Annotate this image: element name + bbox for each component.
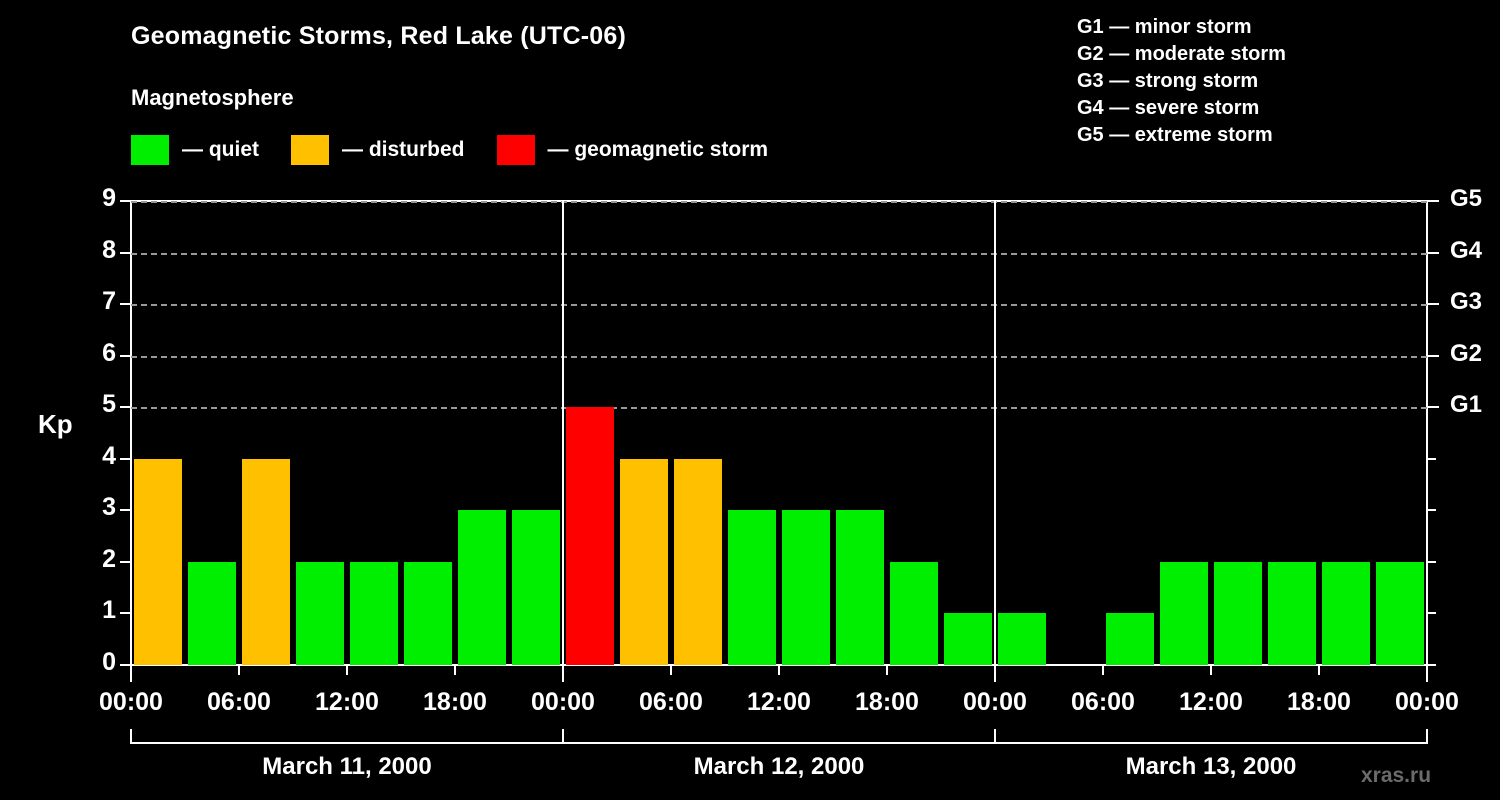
x-axis-tick-label: 00:00 xyxy=(531,688,595,717)
date-bracket xyxy=(995,742,1427,744)
bar xyxy=(944,613,992,665)
day-separator xyxy=(562,200,564,666)
y-axis-tick-label: 0 xyxy=(76,648,116,677)
x-axis-tick-label: 00:00 xyxy=(963,688,1027,717)
y-axis-tick-label: 2 xyxy=(76,545,116,574)
x-axis-minor-tick xyxy=(670,666,672,675)
date-label: March 12, 2000 xyxy=(694,753,865,781)
y-axis-tick-label: 5 xyxy=(76,390,116,419)
bar xyxy=(188,562,236,665)
bar xyxy=(890,562,938,665)
x-axis-major-tick xyxy=(1426,666,1428,682)
bar xyxy=(404,562,452,665)
g-axis-tick-label: G3 xyxy=(1450,288,1482,316)
g-axis-tick xyxy=(1428,252,1439,254)
watermark: xras.ru xyxy=(1361,764,1431,788)
y-axis-tick-label: 3 xyxy=(76,493,116,522)
bar xyxy=(1160,562,1208,665)
gridline-kp-9 xyxy=(131,201,1427,203)
y-axis-tick xyxy=(120,406,131,408)
bar xyxy=(1214,562,1262,665)
y-axis-tick-label: 6 xyxy=(76,339,116,368)
y-axis-tick xyxy=(120,458,131,460)
x-axis-major-tick xyxy=(994,666,996,682)
x-axis-minor-tick xyxy=(238,666,240,675)
plot-canvas xyxy=(131,201,1427,665)
bar xyxy=(620,459,668,665)
g-axis-tick-label: G1 xyxy=(1450,391,1482,419)
date-bracket-cap xyxy=(1426,729,1428,744)
bar xyxy=(674,459,722,665)
g-axis-tick xyxy=(1428,303,1439,305)
day-separator xyxy=(994,200,996,666)
x-axis-major-tick xyxy=(130,666,132,682)
x-axis-minor-tick xyxy=(454,666,456,675)
x-axis-major-tick xyxy=(562,666,564,682)
g-axis-tick xyxy=(1428,355,1439,357)
bar xyxy=(350,562,398,665)
x-axis-tick-label: 06:00 xyxy=(639,688,703,717)
g-axis-tick-label: G4 xyxy=(1450,237,1482,265)
x-axis-minor-tick xyxy=(886,666,888,675)
bar xyxy=(1106,613,1154,665)
g-axis-minor-tick xyxy=(1428,612,1436,614)
x-axis-tick-label: 18:00 xyxy=(855,688,919,717)
date-bracket-cap xyxy=(562,729,564,744)
bar xyxy=(1376,562,1424,665)
bar xyxy=(1322,562,1370,665)
x-axis-tick-label: 06:00 xyxy=(1071,688,1135,717)
g-axis-minor-tick xyxy=(1428,664,1436,666)
gridline-kp-7 xyxy=(131,304,1427,306)
bar xyxy=(134,459,182,665)
y-axis-label: Kp xyxy=(38,409,73,440)
gridline-kp-6 xyxy=(131,356,1427,358)
g-axis-tick xyxy=(1428,406,1439,408)
gridline-kp-5 xyxy=(131,407,1427,409)
x-axis-minor-tick xyxy=(346,666,348,675)
x-axis-tick-label: 06:00 xyxy=(207,688,271,717)
y-axis-tick xyxy=(120,509,131,511)
y-axis-tick-label: 7 xyxy=(76,287,116,316)
date-label: March 13, 2000 xyxy=(1126,753,1297,781)
g-axis-minor-tick xyxy=(1428,458,1436,460)
x-axis-tick-label: 00:00 xyxy=(1395,688,1459,717)
x-axis-tick-label: 12:00 xyxy=(1179,688,1243,717)
bar xyxy=(512,510,560,665)
date-bracket xyxy=(563,742,995,744)
x-axis-tick-label: 18:00 xyxy=(1287,688,1351,717)
x-axis-minor-tick xyxy=(778,666,780,675)
bar xyxy=(458,510,506,665)
g-axis-minor-tick xyxy=(1428,561,1436,563)
y-axis-tick xyxy=(120,561,131,563)
y-axis-tick-label: 1 xyxy=(76,596,116,625)
x-axis-minor-tick xyxy=(1102,666,1104,675)
date-bracket-cap xyxy=(130,729,132,744)
date-label: March 11, 2000 xyxy=(262,753,431,781)
bar xyxy=(566,407,614,665)
bar xyxy=(242,459,290,665)
y-axis-tick-label: 8 xyxy=(76,236,116,265)
bar xyxy=(728,510,776,665)
date-bracket xyxy=(131,742,563,744)
date-bracket-cap xyxy=(994,729,996,744)
y-axis-tick xyxy=(120,303,131,305)
x-axis-tick-label: 12:00 xyxy=(315,688,379,717)
g-axis-tick-label: G5 xyxy=(1450,185,1482,213)
y-axis-tick xyxy=(120,355,131,357)
y-axis-tick xyxy=(120,200,131,202)
g-axis-minor-tick xyxy=(1428,509,1436,511)
x-axis-minor-tick xyxy=(1210,666,1212,675)
x-axis-tick-label: 12:00 xyxy=(747,688,811,717)
y-axis-tick xyxy=(120,252,131,254)
bar xyxy=(836,510,884,665)
x-axis-minor-tick xyxy=(1318,666,1320,675)
x-axis-tick-label: 18:00 xyxy=(423,688,487,717)
bar xyxy=(1268,562,1316,665)
g-axis-tick xyxy=(1428,200,1439,202)
bar xyxy=(296,562,344,665)
bar xyxy=(998,613,1046,665)
g-axis-tick-label: G2 xyxy=(1450,340,1482,368)
chart-area: 0123456789 Kp G1G2G3G4G5 00:0006:0012:00… xyxy=(0,0,1500,800)
gridline-kp-8 xyxy=(131,253,1427,255)
bar xyxy=(782,510,830,665)
y-axis-tick-label: 4 xyxy=(76,442,116,471)
x-axis-tick-label: 00:00 xyxy=(99,688,163,717)
y-axis-tick xyxy=(120,612,131,614)
y-axis-tick-label: 9 xyxy=(76,184,116,213)
